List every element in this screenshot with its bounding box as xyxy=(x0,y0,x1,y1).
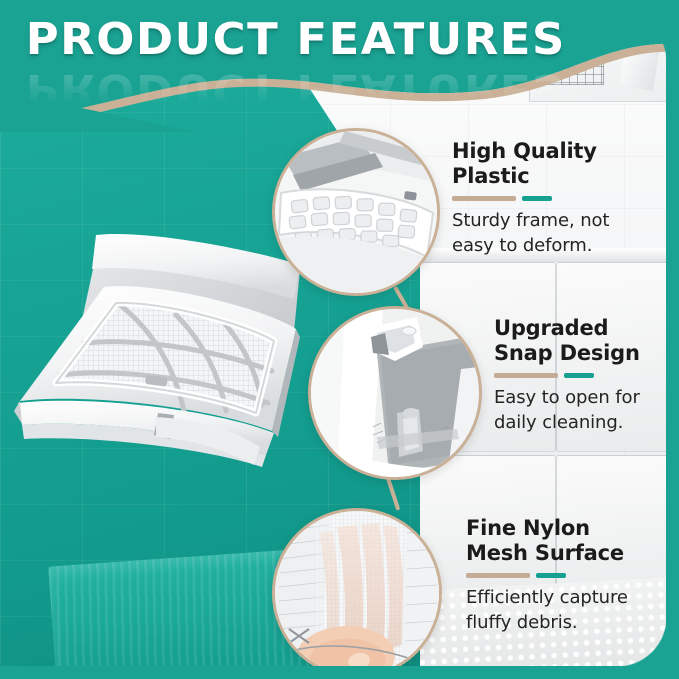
mesh-with-lint-closeup-image xyxy=(275,511,439,675)
divider-bar-tan xyxy=(494,373,558,378)
feature-title: Upgraded Snap Design xyxy=(494,316,669,366)
feature-block-upgraded-snap-design: Upgraded Snap Design Easy to open for da… xyxy=(494,316,669,435)
page-title: PRODUCT FEATURES xyxy=(26,14,566,65)
border-corner-top-right xyxy=(617,0,679,62)
header-banner: PRODUCT FEATURES PRODUCT FEATURES xyxy=(0,0,679,132)
callout-circle-high-quality-plastic xyxy=(272,128,440,296)
divider-bar-teal xyxy=(536,573,566,578)
feature-block-high-quality-plastic: High Quality Plastic Sturdy frame, not e… xyxy=(452,139,672,258)
feature-description: Sturdy frame, not easy to deform. xyxy=(452,208,672,258)
dryer-lint-filter-illustration xyxy=(8,225,300,477)
border-corner-bottom-right xyxy=(617,617,679,679)
feature-divider xyxy=(466,573,671,578)
divider-bar-teal xyxy=(522,196,552,201)
feature-title: Fine Nylon Mesh Surface xyxy=(466,516,671,566)
border-frame-bottom xyxy=(0,666,679,679)
callout-circle-fine-nylon-mesh xyxy=(272,508,442,678)
divider-bar-tan xyxy=(466,573,530,578)
feature-title: High Quality Plastic xyxy=(452,139,672,189)
feature-description: Easy to open for daily cleaning. xyxy=(494,385,669,435)
divider-bar-teal xyxy=(564,373,594,378)
plastic-frame-closeup-image xyxy=(275,131,437,293)
feature-divider xyxy=(452,196,672,201)
product-features-infographic: PRODUCT FEATURES PRODUCT FEATURES xyxy=(0,0,679,679)
border-frame-right xyxy=(666,0,679,679)
main-product-image xyxy=(8,225,300,477)
callout-circle-upgraded-snap-design xyxy=(308,306,482,480)
feature-divider xyxy=(494,373,669,378)
divider-bar-tan xyxy=(452,196,516,201)
snap-latch-closeup-image xyxy=(311,309,479,477)
